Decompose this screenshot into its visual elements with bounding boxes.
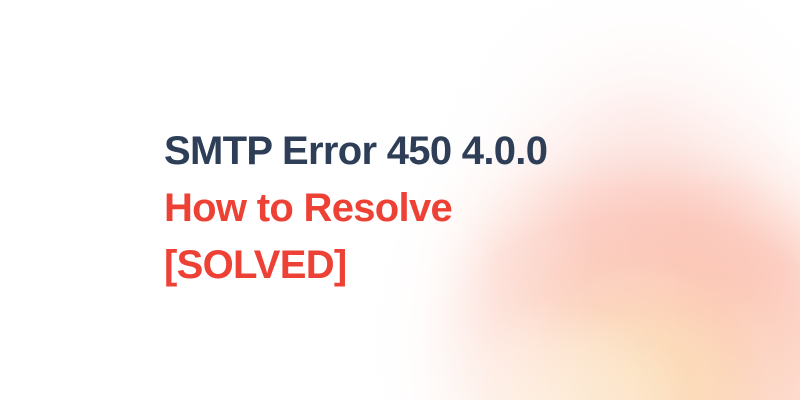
headline-line-2: How to Resolve [164,180,547,237]
page-title: SMTP Error 450 4.0.0 How to Resolve [SOL… [164,123,547,294]
headline-line-3: [SOLVED] [164,237,547,294]
headline-line-1: SMTP Error 450 4.0.0 [164,123,547,180]
hero-banner: SMTP Error 450 4.0.0 How to Resolve [SOL… [0,0,800,400]
cream-soft-blob [400,300,700,400]
